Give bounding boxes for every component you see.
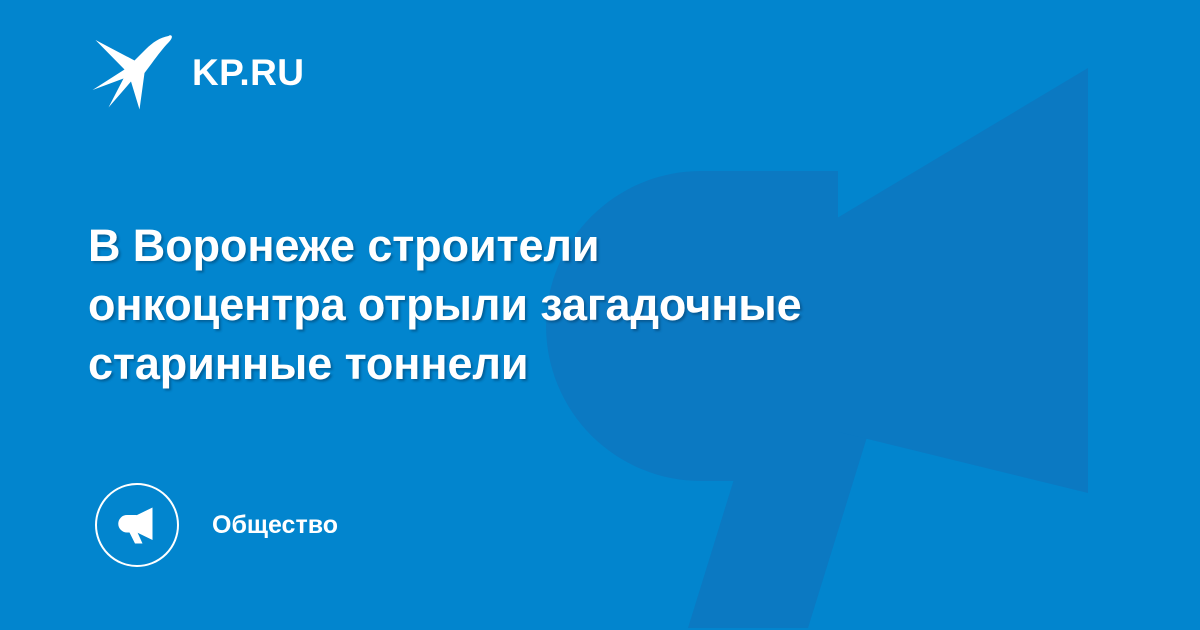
swallow-bird-icon bbox=[90, 33, 174, 111]
headline: В Воронеже строители онкоцентра отрыли з… bbox=[88, 216, 1038, 393]
headline-line-3: старинные тоннели bbox=[88, 334, 1038, 393]
category-icon-circle bbox=[95, 483, 179, 567]
headline-line-1: В Воронеже строители bbox=[88, 216, 1038, 275]
headline-line-2: онкоцентра отрыли загадочные bbox=[88, 275, 1038, 334]
category-label: Общество bbox=[212, 513, 338, 538]
article-share-card: KP.RU В Воронеже строители онкоцентра от… bbox=[0, 0, 1200, 630]
site-logo[interactable]: KP.RU bbox=[90, 32, 304, 112]
brand-wordmark: KP.RU bbox=[192, 54, 304, 91]
category-badge[interactable]: Общество bbox=[95, 482, 338, 568]
megaphone-icon bbox=[114, 502, 160, 548]
